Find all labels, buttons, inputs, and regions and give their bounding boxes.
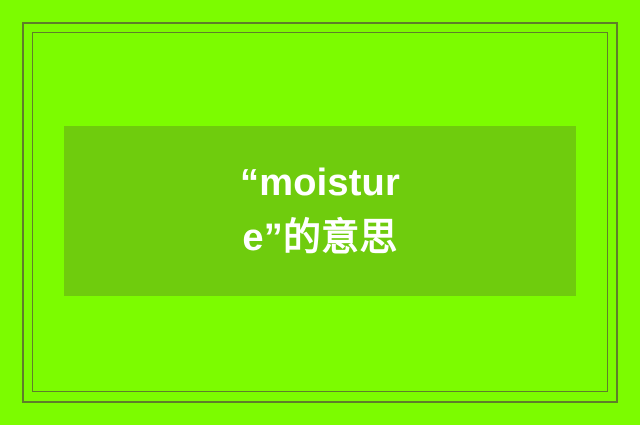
poster-canvas: “moisture”的意思	[0, 0, 640, 425]
headline-panel: “moisture”的意思	[64, 126, 576, 296]
headline-text: “moisture”的意思	[227, 156, 413, 266]
